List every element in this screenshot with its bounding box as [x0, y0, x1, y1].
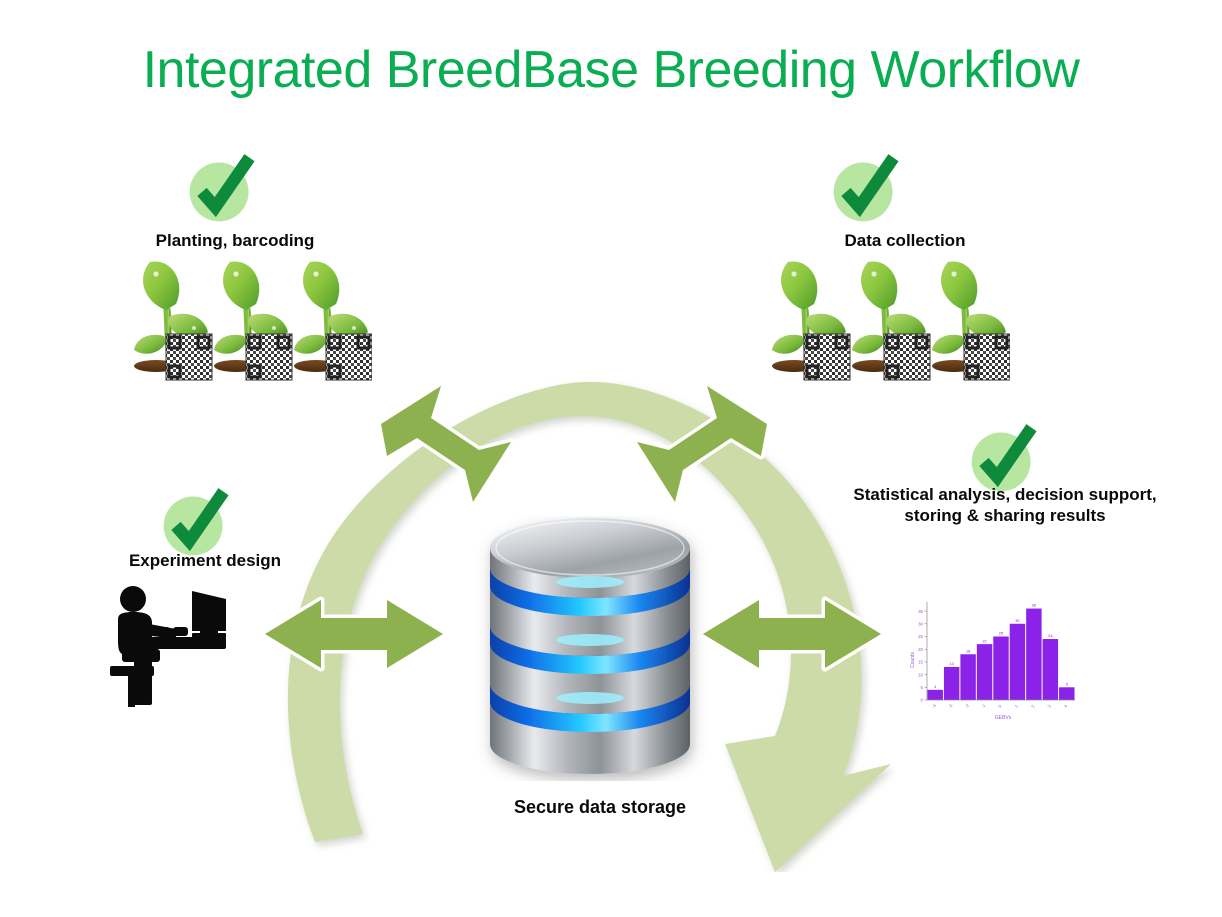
- svg-text:15: 15: [918, 660, 923, 665]
- chart-xtick-label: -2: [964, 703, 971, 709]
- chart-bar: [993, 636, 1008, 700]
- chart-bar: [1059, 687, 1074, 700]
- chart-xtick-label: 2: [1030, 703, 1036, 708]
- three-seedlings-with-qr-codes: [134, 252, 372, 382]
- chart-bar-value-label: 22: [982, 638, 987, 643]
- svg-text:35: 35: [918, 609, 923, 614]
- chart-xtick-label: -4: [931, 703, 938, 709]
- chart-bar-value-label: 13: [949, 661, 954, 666]
- chart-ylabel: Counts: [910, 652, 916, 668]
- svg-text:10: 10: [918, 672, 923, 677]
- chart-xlabel: GEBVs: [995, 715, 1012, 721]
- stage-label-statistics: Statistical analysis, decision support, …: [845, 485, 1165, 526]
- stage-label-planting: Planting, barcoding: [90, 231, 380, 252]
- chart-bar-value-label: 24: [1048, 633, 1053, 638]
- chart-xtick-label: -1: [980, 703, 987, 709]
- chart-bar-value-label: 18: [966, 648, 971, 653]
- chart-bar-value-label: 36: [1032, 603, 1037, 608]
- person-at-computer-desk-icon: [104, 583, 244, 708]
- chart-bar: [1010, 624, 1025, 700]
- chart-bar: [1026, 609, 1041, 700]
- svg-text:20: 20: [918, 647, 923, 652]
- chart-xtick-label: 0: [997, 703, 1003, 708]
- database-cylinder-stack-icon: [470, 516, 710, 781]
- page-title: Integrated BreedBase Breeding Workflow: [0, 40, 1222, 100]
- chart-bar: [928, 690, 943, 700]
- stage-label-experiment-design: Experiment design: [60, 551, 350, 572]
- svg-text:30: 30: [918, 621, 923, 626]
- chart-bar-value-label: 25: [999, 631, 1004, 636]
- chart-xtick-label: -3: [947, 703, 954, 709]
- diagram-canvas: Integrated BreedBase Breeding Workflow: [0, 0, 1222, 917]
- three-seedlings-with-qr-codes: [772, 252, 1010, 382]
- check-mark-icon: [827, 152, 903, 228]
- chart-bar: [977, 644, 992, 700]
- chart-xtick-label: 4: [1063, 703, 1069, 708]
- chart-bar-value-label: 5: [1066, 681, 1069, 686]
- gebv-histogram-chart: 4131822253036245 05101520253035-4-3-2-10…: [905, 588, 1080, 723]
- chart-bar: [960, 654, 975, 700]
- svg-text:25: 25: [918, 634, 923, 639]
- check-mark-icon: [183, 152, 259, 228]
- chart-bar-value-label: 30: [1015, 618, 1020, 623]
- stage-label-secure-data-storage: Secure data storage: [450, 797, 750, 819]
- svg-text:0: 0: [921, 698, 924, 703]
- stage-label-data-collection: Data collection: [760, 231, 1050, 252]
- chart-bar-value-label: 4: [934, 684, 937, 689]
- chart-bar: [1043, 639, 1058, 700]
- svg-text:5: 5: [921, 685, 924, 690]
- chart-xtick-label: 3: [1046, 703, 1052, 708]
- chart-xtick-label: 1: [1013, 703, 1019, 708]
- chart-bar: [944, 667, 959, 700]
